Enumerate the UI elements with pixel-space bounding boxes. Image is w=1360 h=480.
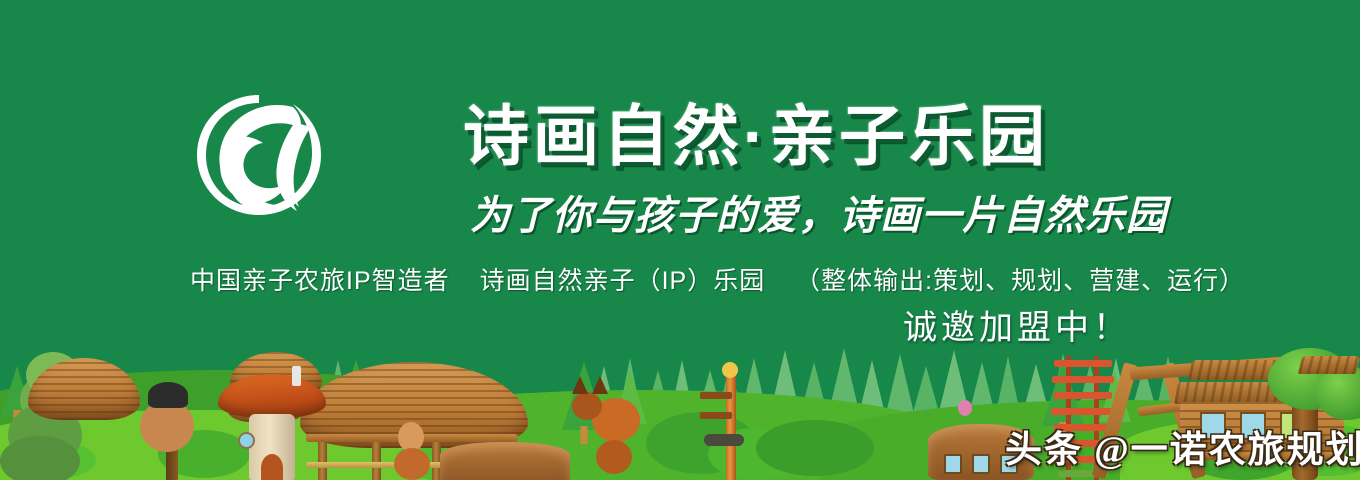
mushroom-chimney	[292, 366, 301, 386]
small-flower	[958, 400, 972, 416]
promotional-banner: 诗画自然·亲子乐园 为了你与孩子的爱，诗画一片自然乐园 中国亲子农旅IP智造者 …	[0, 0, 1360, 480]
eagle-phoenix-circle-logo	[193, 93, 325, 217]
headline-subtitle: 为了你与孩子的爱，诗画一片自然乐园	[470, 190, 1167, 242]
call-to-action-text: 诚邀加盟中！	[903, 306, 1131, 350]
source-watermark: 头条 @一诺农旅规划	[1005, 428, 1360, 474]
page-title: 诗画自然·亲子乐园	[463, 96, 1049, 176]
bush	[756, 420, 874, 476]
tagline-segment-2: 诗画自然亲子（IP）乐园	[480, 267, 766, 295]
tagline-row: 中国亲子农旅IP智造者 诗画自然亲子（IP）乐园 （整体输出:策划、规划、营建、…	[190, 264, 1245, 298]
tagline-segment-3: （整体输出:策划、规划、营建、运行）	[795, 267, 1245, 295]
mushroom-house	[218, 374, 326, 480]
tagline-segment-1: 中国亲子农旅IP智造者	[190, 267, 450, 295]
